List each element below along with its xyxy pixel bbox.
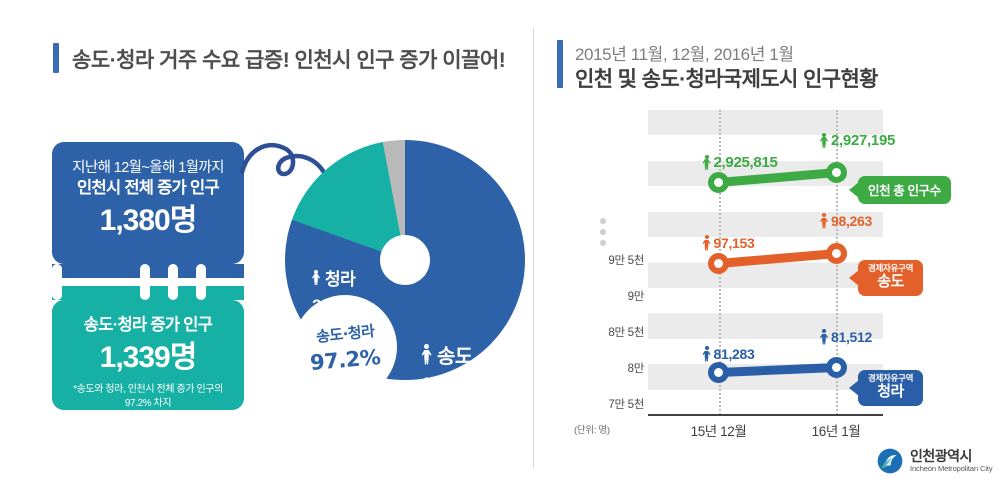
chart-y-tick: 8만	[560, 360, 644, 376]
stat-box-total-increase: 지난해 12월~올해 1월까지 인천시 전체 증가 인구 1,380명	[52, 142, 244, 264]
donut-center-hole	[380, 235, 430, 285]
right-heading-title: 인천 및 송도·청라국제도시 인구현황	[575, 63, 878, 93]
chart-y-tick: 8만 5천	[560, 324, 644, 340]
axis-break-dots-icon	[600, 218, 606, 251]
bubble-label: 송도·청라	[315, 320, 375, 347]
stat-blue-subtitle: 지난해 12월~올해 1월까지	[52, 159, 244, 177]
stat-blue-title: 인천시 전체 증가 인구	[52, 177, 244, 199]
chart-band	[648, 110, 883, 135]
stat-teal-value: 1,339명	[52, 338, 244, 377]
chart-band	[648, 339, 883, 364]
logo-name-ko: 인천광역시	[910, 449, 993, 464]
chart-band	[648, 237, 883, 262]
chart-plot-area	[648, 110, 883, 415]
panel-divider	[533, 28, 534, 468]
chart-y-tick: 9만	[560, 288, 644, 304]
chart-band	[648, 313, 883, 338]
incheon-emblem-icon	[877, 448, 903, 474]
chart-y-tick: 7만 5천	[560, 396, 644, 412]
chart-vertical-guide	[836, 110, 838, 415]
chart-band	[648, 364, 883, 389]
chart-band	[648, 135, 883, 160]
chart-band	[648, 390, 883, 415]
left-heading-text: 송도·청라 거주 수요 급증! 인천시 인구 증가 이끌어!	[72, 44, 505, 74]
left-heading-accent-bar	[53, 43, 59, 73]
stat-blue-value: 1,380명	[52, 201, 244, 240]
chart-band	[648, 212, 883, 237]
stat-box-songdo-cheongna-increase: 송도·청라 증가 인구 1,339명 *송도와 청라, 인천시 전체 증가 인구…	[52, 300, 244, 410]
chart-y-tick: 9만 5천	[560, 252, 644, 268]
stat-teal-note: *송도와 청라, 인천시 전체 증가 인구의 97.2% 차지	[52, 383, 244, 411]
person-icon	[421, 344, 432, 366]
chart-band	[648, 161, 883, 186]
donut-label-songdo: 송도 1,110명	[421, 340, 482, 397]
donut-songdo-value: 1,110명	[421, 370, 482, 397]
stat-box-connector	[52, 264, 244, 300]
chart-x-tick: 16년 1월	[812, 420, 861, 440]
person-icon	[312, 270, 320, 286]
percentage-bubble: 송도·청라 97.2%	[293, 295, 397, 399]
chart-band	[648, 288, 883, 313]
stat-teal-title: 송도·청라 증가 인구	[52, 314, 244, 336]
incheon-logo: 인천광역시 Incheon Metropolitan City	[877, 448, 993, 474]
chart-x-tick: 15년 12월	[691, 420, 747, 440]
chart-vertical-guide	[719, 110, 721, 415]
chart-band	[648, 263, 883, 288]
population-line-chart: 9만 5천9만8만 5천8만7만 5천 (단위: 명) 2,925,8152,9…	[560, 110, 980, 430]
bubble-percent: 97.2%	[309, 344, 381, 374]
donut-songdo-name: 송도	[437, 340, 473, 369]
donut-cheongna-name: 청라	[325, 265, 355, 290]
right-heading-subtitle: 2015년 11월, 12월, 2016년 1월	[575, 40, 794, 65]
infographic-root: 송도·청라 거주 수요 급증! 인천시 인구 증가 이끌어! 지난해 12월~올…	[0, 0, 1000, 495]
right-heading-accent-bar	[557, 40, 563, 88]
logo-name-en: Incheon Metropolitan City	[910, 464, 993, 473]
chart-x-axis	[648, 414, 883, 416]
chart-y-axis-labels: 9만 5천9만8만 5천8만7만 5천	[560, 110, 644, 420]
chart-band	[648, 186, 883, 211]
chart-unit-note: (단위: 명)	[574, 422, 610, 436]
